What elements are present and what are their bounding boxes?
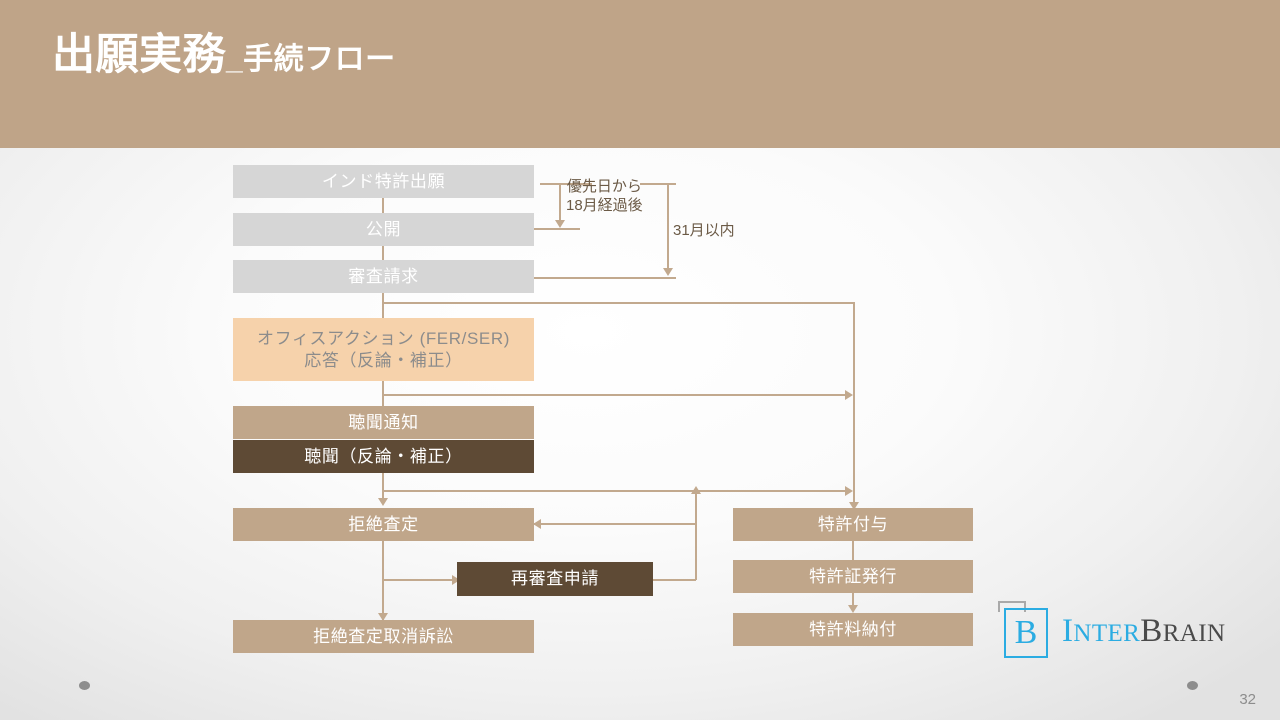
flow-node-refusal-lawsuit-label: 拒絶査定取消訴訟: [313, 626, 454, 647]
connector-exam-to-officeaction: [382, 293, 384, 318]
arrowhead-18m-end: [555, 220, 565, 228]
page-title-main: 出願実務: [52, 31, 226, 79]
bracket-18m-bottom: [534, 228, 580, 230]
flow-node-office-action-label2: 応答（反論・補正）: [304, 350, 462, 371]
arrowhead-hearing-trunk: [845, 486, 853, 496]
logo-mark-icon: B: [996, 600, 1054, 662]
logo-word-rain: RAIN: [1163, 620, 1226, 647]
arrowhead-31m-end: [663, 268, 673, 276]
flow-node-office-action[interactable]: オフィスアクション (FER/SER) 応答（反論・補正）: [233, 318, 534, 381]
annotation-within-31: 31月以内: [673, 221, 735, 240]
connector-refusal-to-review: [382, 579, 457, 581]
connector-application-to-publication: [382, 198, 384, 214]
flow-node-publication[interactable]: 公開: [233, 213, 534, 246]
flow-node-hearing[interactable]: 聴聞（反論・補正）: [233, 440, 534, 473]
logo-word-b: B: [1140, 613, 1162, 649]
logo-word-nter: NTER: [1073, 620, 1140, 647]
flow-node-hearing-notice-label: 聴聞通知: [348, 412, 418, 433]
flow-node-patent-fee-label: 特許料納付: [809, 619, 897, 640]
logo-word-i: I: [1062, 613, 1073, 649]
arrowhead-review-loop-up: [691, 486, 701, 494]
flow-node-patent-grant-label: 特許付与: [818, 514, 888, 535]
logo-wordmark: INTERBRAIN: [1062, 613, 1225, 650]
flow-node-application-label: インド特許出願: [322, 171, 445, 192]
bracket-31m-top: [640, 183, 676, 185]
connector-grant-to-certificate: [852, 541, 854, 560]
flow-node-refusal[interactable]: 拒絶査定: [233, 508, 534, 541]
flow-node-patent-certificate[interactable]: 特許証発行: [733, 560, 973, 593]
connector-review-out: [652, 579, 696, 581]
flow-node-exam-request[interactable]: 審査請求: [233, 260, 534, 293]
slide-canvas: 出願実務_手続フロー 優先日から 18月経過後 31月以内: [0, 0, 1280, 720]
footer-dot-left: [79, 681, 90, 690]
flow-node-review-request[interactable]: 再審査申請: [457, 562, 653, 596]
flow-node-patent-grant[interactable]: 特許付与: [733, 508, 973, 541]
flow-node-patent-fee[interactable]: 特許料納付: [733, 613, 973, 646]
bracket-18m-vertical: [559, 183, 561, 225]
annotation-from-priority-line1: 優先日から: [566, 177, 643, 196]
flow-node-exam-request-label: 審査請求: [348, 266, 418, 287]
connector-officeaction-to-trunk: [382, 394, 848, 396]
flow-node-refusal-label: 拒絶査定: [348, 514, 418, 535]
flow-node-office-action-label: オフィスアクション (FER/SER): [257, 328, 510, 349]
flow-node-application[interactable]: インド特許出願: [233, 165, 534, 198]
flow-node-patent-certificate-label: 特許証発行: [809, 566, 897, 587]
connector-review-loop-vertical: [695, 491, 697, 580]
flow-node-hearing-notice[interactable]: 聴聞通知: [233, 406, 534, 439]
arrowhead-fee-in: [848, 605, 858, 613]
arrowhead-refusal-left-in: [533, 519, 541, 529]
bracket-31m-bottom: [534, 277, 676, 279]
page-number: 32: [1239, 691, 1256, 708]
flow-node-refusal-lawsuit[interactable]: 拒絶査定取消訴訟: [233, 620, 534, 653]
logo-letter: B: [1004, 608, 1048, 658]
page-number-bullet-icon: [1187, 681, 1198, 690]
connector-exam-to-trunk: [382, 302, 854, 304]
flow-node-publication-label: 公開: [366, 219, 401, 240]
page-title: 出願実務_手続フロー: [52, 34, 396, 77]
flow-node-review-request-label: 再審査申請: [511, 568, 599, 589]
bracket-31m-vertical: [667, 183, 669, 274]
flow-node-hearing-label: 聴聞（反論・補正）: [304, 446, 462, 467]
trunk-to-grant: [853, 302, 855, 510]
arrowhead-officeaction-trunk: [845, 390, 853, 400]
arrowhead-refusal-in: [378, 498, 388, 506]
connector-review-to-refusal: [534, 523, 696, 525]
connector-hearing-to-trunk: [382, 490, 848, 492]
interbrain-logo: B INTERBRAIN: [996, 600, 1225, 662]
annotation-from-priority-line2: 18月経過後: [566, 196, 643, 215]
annotation-from-priority: 優先日から 18月経過後: [566, 177, 643, 215]
page-title-sub: _手続フロー: [226, 43, 396, 76]
